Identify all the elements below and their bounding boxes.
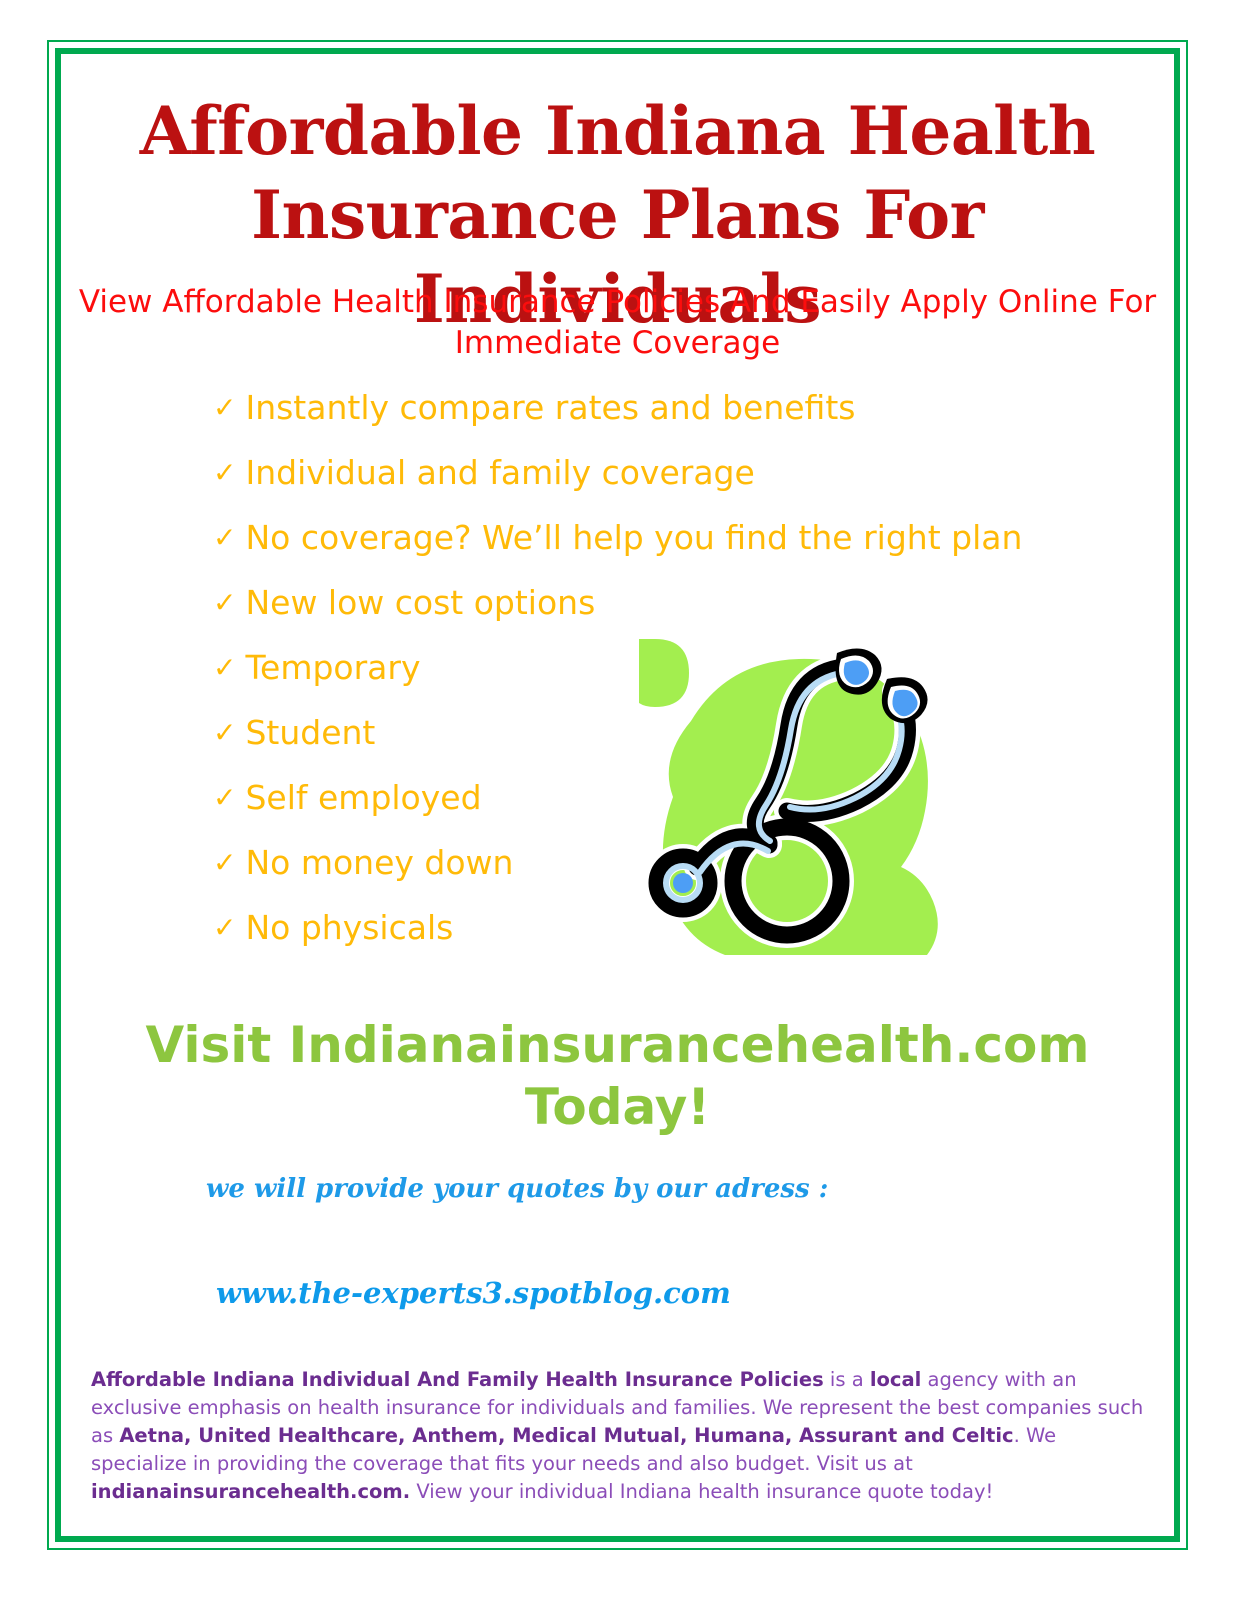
- list-item-label: Instantly compare rates and benefits: [245, 388, 855, 427]
- page-subtitle: View Affordable Health Insurance Policie…: [61, 282, 1174, 364]
- check-icon: ✓: [213, 714, 236, 752]
- list-item-label: Student: [245, 713, 375, 752]
- blog-url-link[interactable]: www.the-experts3.spotblog.com: [216, 1276, 731, 1310]
- footer-paragraph: Affordable Indiana Individual And Family…: [91, 1366, 1151, 1506]
- footer-bold-company: Affordable Indiana Individual And Family…: [91, 1368, 824, 1391]
- stethoscope-icon: [629, 629, 949, 969]
- check-icon: ✓: [213, 519, 236, 557]
- footer-bold-website: indianainsurancehealth.com.: [91, 1480, 410, 1503]
- list-item-label: No physicals: [245, 908, 453, 947]
- list-item-label: Individual and family coverage: [245, 453, 754, 492]
- footer-bold-local: local: [870, 1368, 921, 1391]
- footer-bold-carriers: Aetna, United Healthcare, Anthem, Medica…: [119, 1424, 1013, 1447]
- check-icon: ✓: [213, 389, 236, 427]
- check-icon: ✓: [213, 649, 236, 687]
- list-item: ✓Individual and family coverage: [213, 454, 1173, 492]
- check-icon: ✓: [213, 454, 236, 492]
- check-icon: ✓: [213, 844, 236, 882]
- list-item-label: No money down: [245, 843, 513, 882]
- list-item: ✓No coverage? We’ll help you find the ri…: [213, 519, 1173, 557]
- list-item: ✓Instantly compare rates and benefits: [213, 389, 1173, 427]
- flyer-content: Affordable Indiana Health Insurance Plan…: [61, 54, 1174, 1536]
- footer-text: is a: [824, 1368, 870, 1391]
- footer-text: View your individual Indiana health insu…: [410, 1480, 993, 1503]
- list-item-label: No coverage? We’ll help you find the rig…: [245, 518, 1022, 557]
- list-item-label: Self employed: [245, 778, 481, 817]
- check-icon: ✓: [213, 779, 236, 817]
- list-item: ✓New low cost options: [213, 584, 1173, 622]
- cta-headline: Visit Indianainsurancehealth.com Today!: [61, 1014, 1174, 1138]
- list-item-label: Temporary: [245, 648, 420, 687]
- list-item-label: New low cost options: [245, 583, 595, 622]
- quote-note: we will provide your quotes by our adres…: [206, 1174, 828, 1204]
- check-icon: ✓: [213, 584, 236, 622]
- check-icon: ✓: [213, 909, 236, 947]
